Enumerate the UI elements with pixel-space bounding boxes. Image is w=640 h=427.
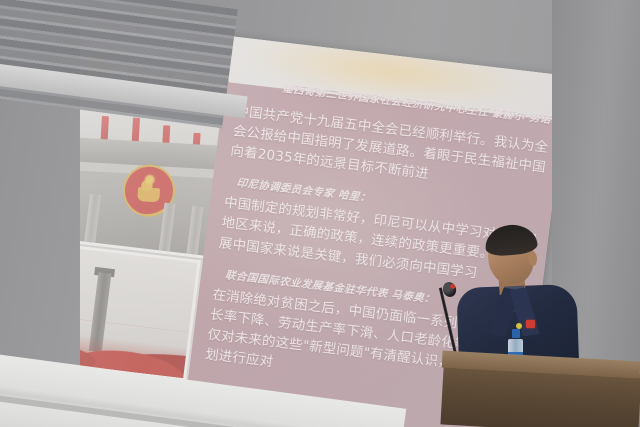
- lectern: [446, 356, 636, 427]
- party-lapel-pin-icon: [526, 320, 535, 328]
- conference-room-scene: 域外评论: [0, 0, 640, 427]
- ear: [527, 251, 537, 267]
